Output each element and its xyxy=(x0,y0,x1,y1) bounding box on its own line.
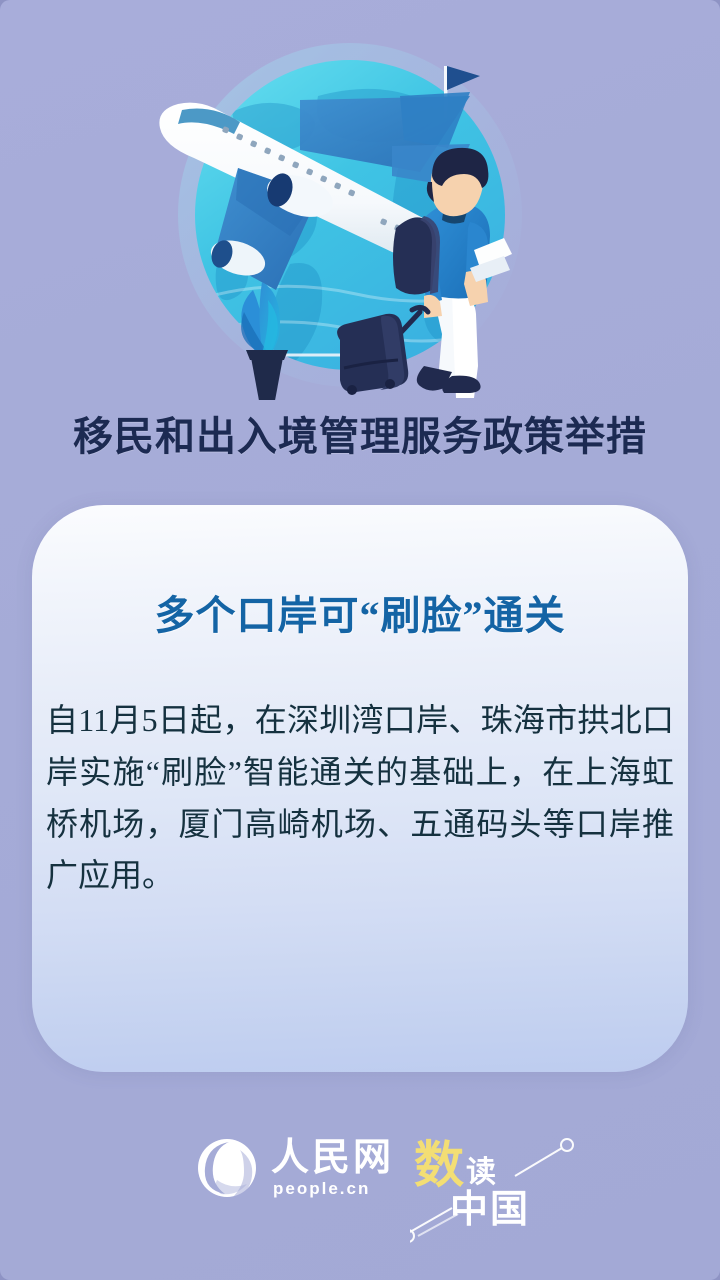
shudu-char-du: 读 xyxy=(466,1158,496,1188)
page-title: 移民和出入境管理服务政策举措 xyxy=(0,404,720,462)
shudu-zhongguo-logo[interactable]: 数 读 中国 xyxy=(410,1128,610,1248)
people-cn-logo[interactable]: 人民网 people.cn xyxy=(195,1136,394,1200)
people-cn-text: 人民网 xyxy=(271,1138,394,1178)
people-swoosh-icon xyxy=(195,1136,259,1200)
people-en-text: people.cn xyxy=(273,1179,370,1199)
shudu-zhongguo-text: 中国 xyxy=(450,1190,530,1230)
poster-root: 移民和出入境管理服务政策举措 多个口岸可“刷脸”通关 自11月5日起，在深圳湾口… xyxy=(0,0,720,1280)
footer: 人民网 people.cn 数 读 中国 xyxy=(0,1128,720,1248)
card-headline: 多个口岸可“刷脸”通关 xyxy=(32,583,688,641)
shudu-char-shu: 数 xyxy=(414,1140,464,1190)
rolling-suitcase-icon xyxy=(337,314,408,395)
content-card: 多个口岸可“刷脸”通关 自11月5日起，在深圳湾口岸、珠海市拱北口岸实施“刷脸”… xyxy=(32,505,688,1072)
hero-illustration xyxy=(0,0,720,400)
card-body-text: 自11月5日起，在深圳湾口岸、珠海市拱北口岸实施“刷脸”智能通关的基础上，在上海… xyxy=(46,695,674,902)
